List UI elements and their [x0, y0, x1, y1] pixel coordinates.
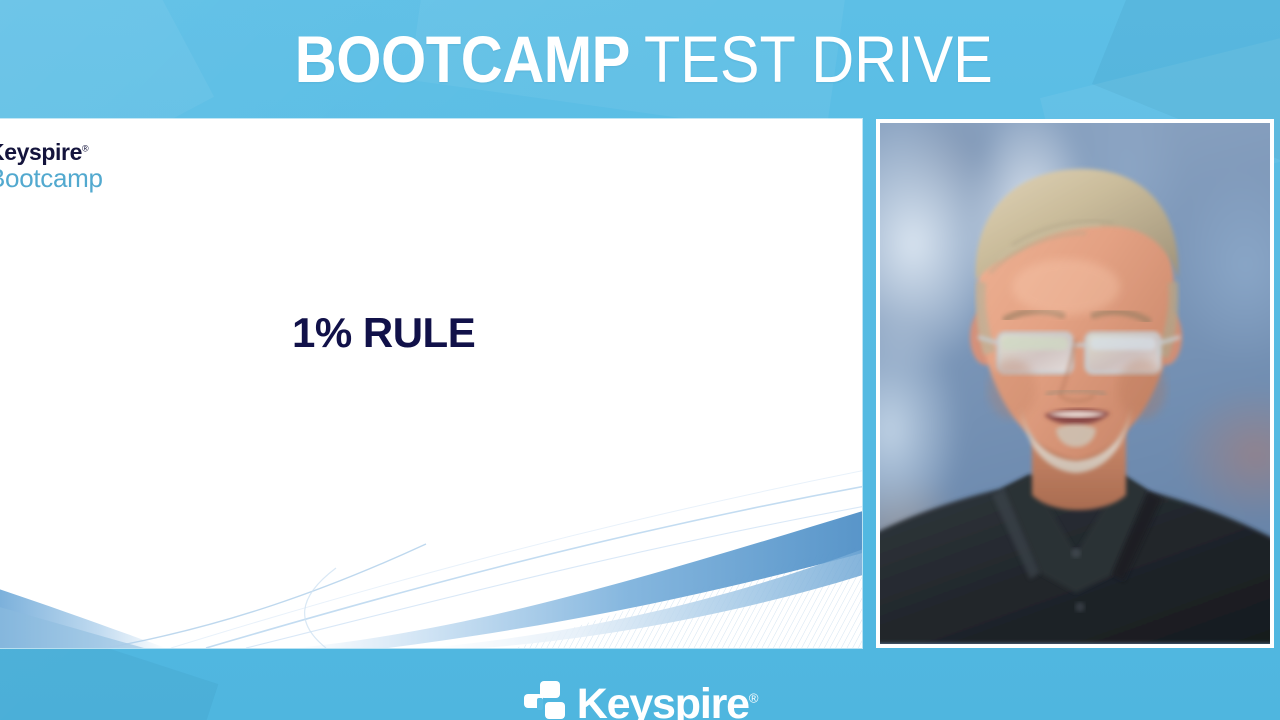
footer-wordmark: Keyspire® [577, 683, 757, 720]
slide-presentation-frame: BOOTCAMP TEST DRIVE [0, 0, 1280, 720]
slide-heading: 1% RULE [292, 309, 475, 357]
footer-wordmark-text: Keyspire [577, 680, 749, 720]
slide-content: Keyspire® Bootcamp 1% RULE [0, 119, 862, 648]
slide-panel: Keyspire® Bootcamp 1% RULE [0, 119, 862, 648]
slide-logo: Keyspire® Bootcamp [0, 141, 103, 192]
slide-logo-primary: Keyspire® [0, 141, 103, 164]
footer-bar: Keyspire® [0, 648, 1280, 720]
keyspire-blocks-icon [523, 680, 567, 720]
slide-decoration-swoosh [0, 448, 862, 648]
header-bar: BOOTCAMP TEST DRIVE [0, 0, 1280, 118]
registered-trademark-icon: ® [749, 691, 757, 706]
slide-logo-secondary: Bootcamp [0, 165, 103, 192]
page-title-light: TEST DRIVE [644, 26, 993, 92]
registered-trademark-icon: ® [82, 143, 88, 153]
video-feed[interactable] [880, 123, 1270, 644]
slide-logo-primary-text: Keyspire [0, 139, 82, 165]
page-title: BOOTCAMP TEST DRIVE [0, 0, 1280, 118]
video-frame [876, 119, 1274, 648]
footer-logo: Keyspire® [0, 648, 1280, 720]
video-subject-presenter [880, 123, 1270, 644]
page-title-strong: BOOTCAMP [294, 26, 629, 92]
